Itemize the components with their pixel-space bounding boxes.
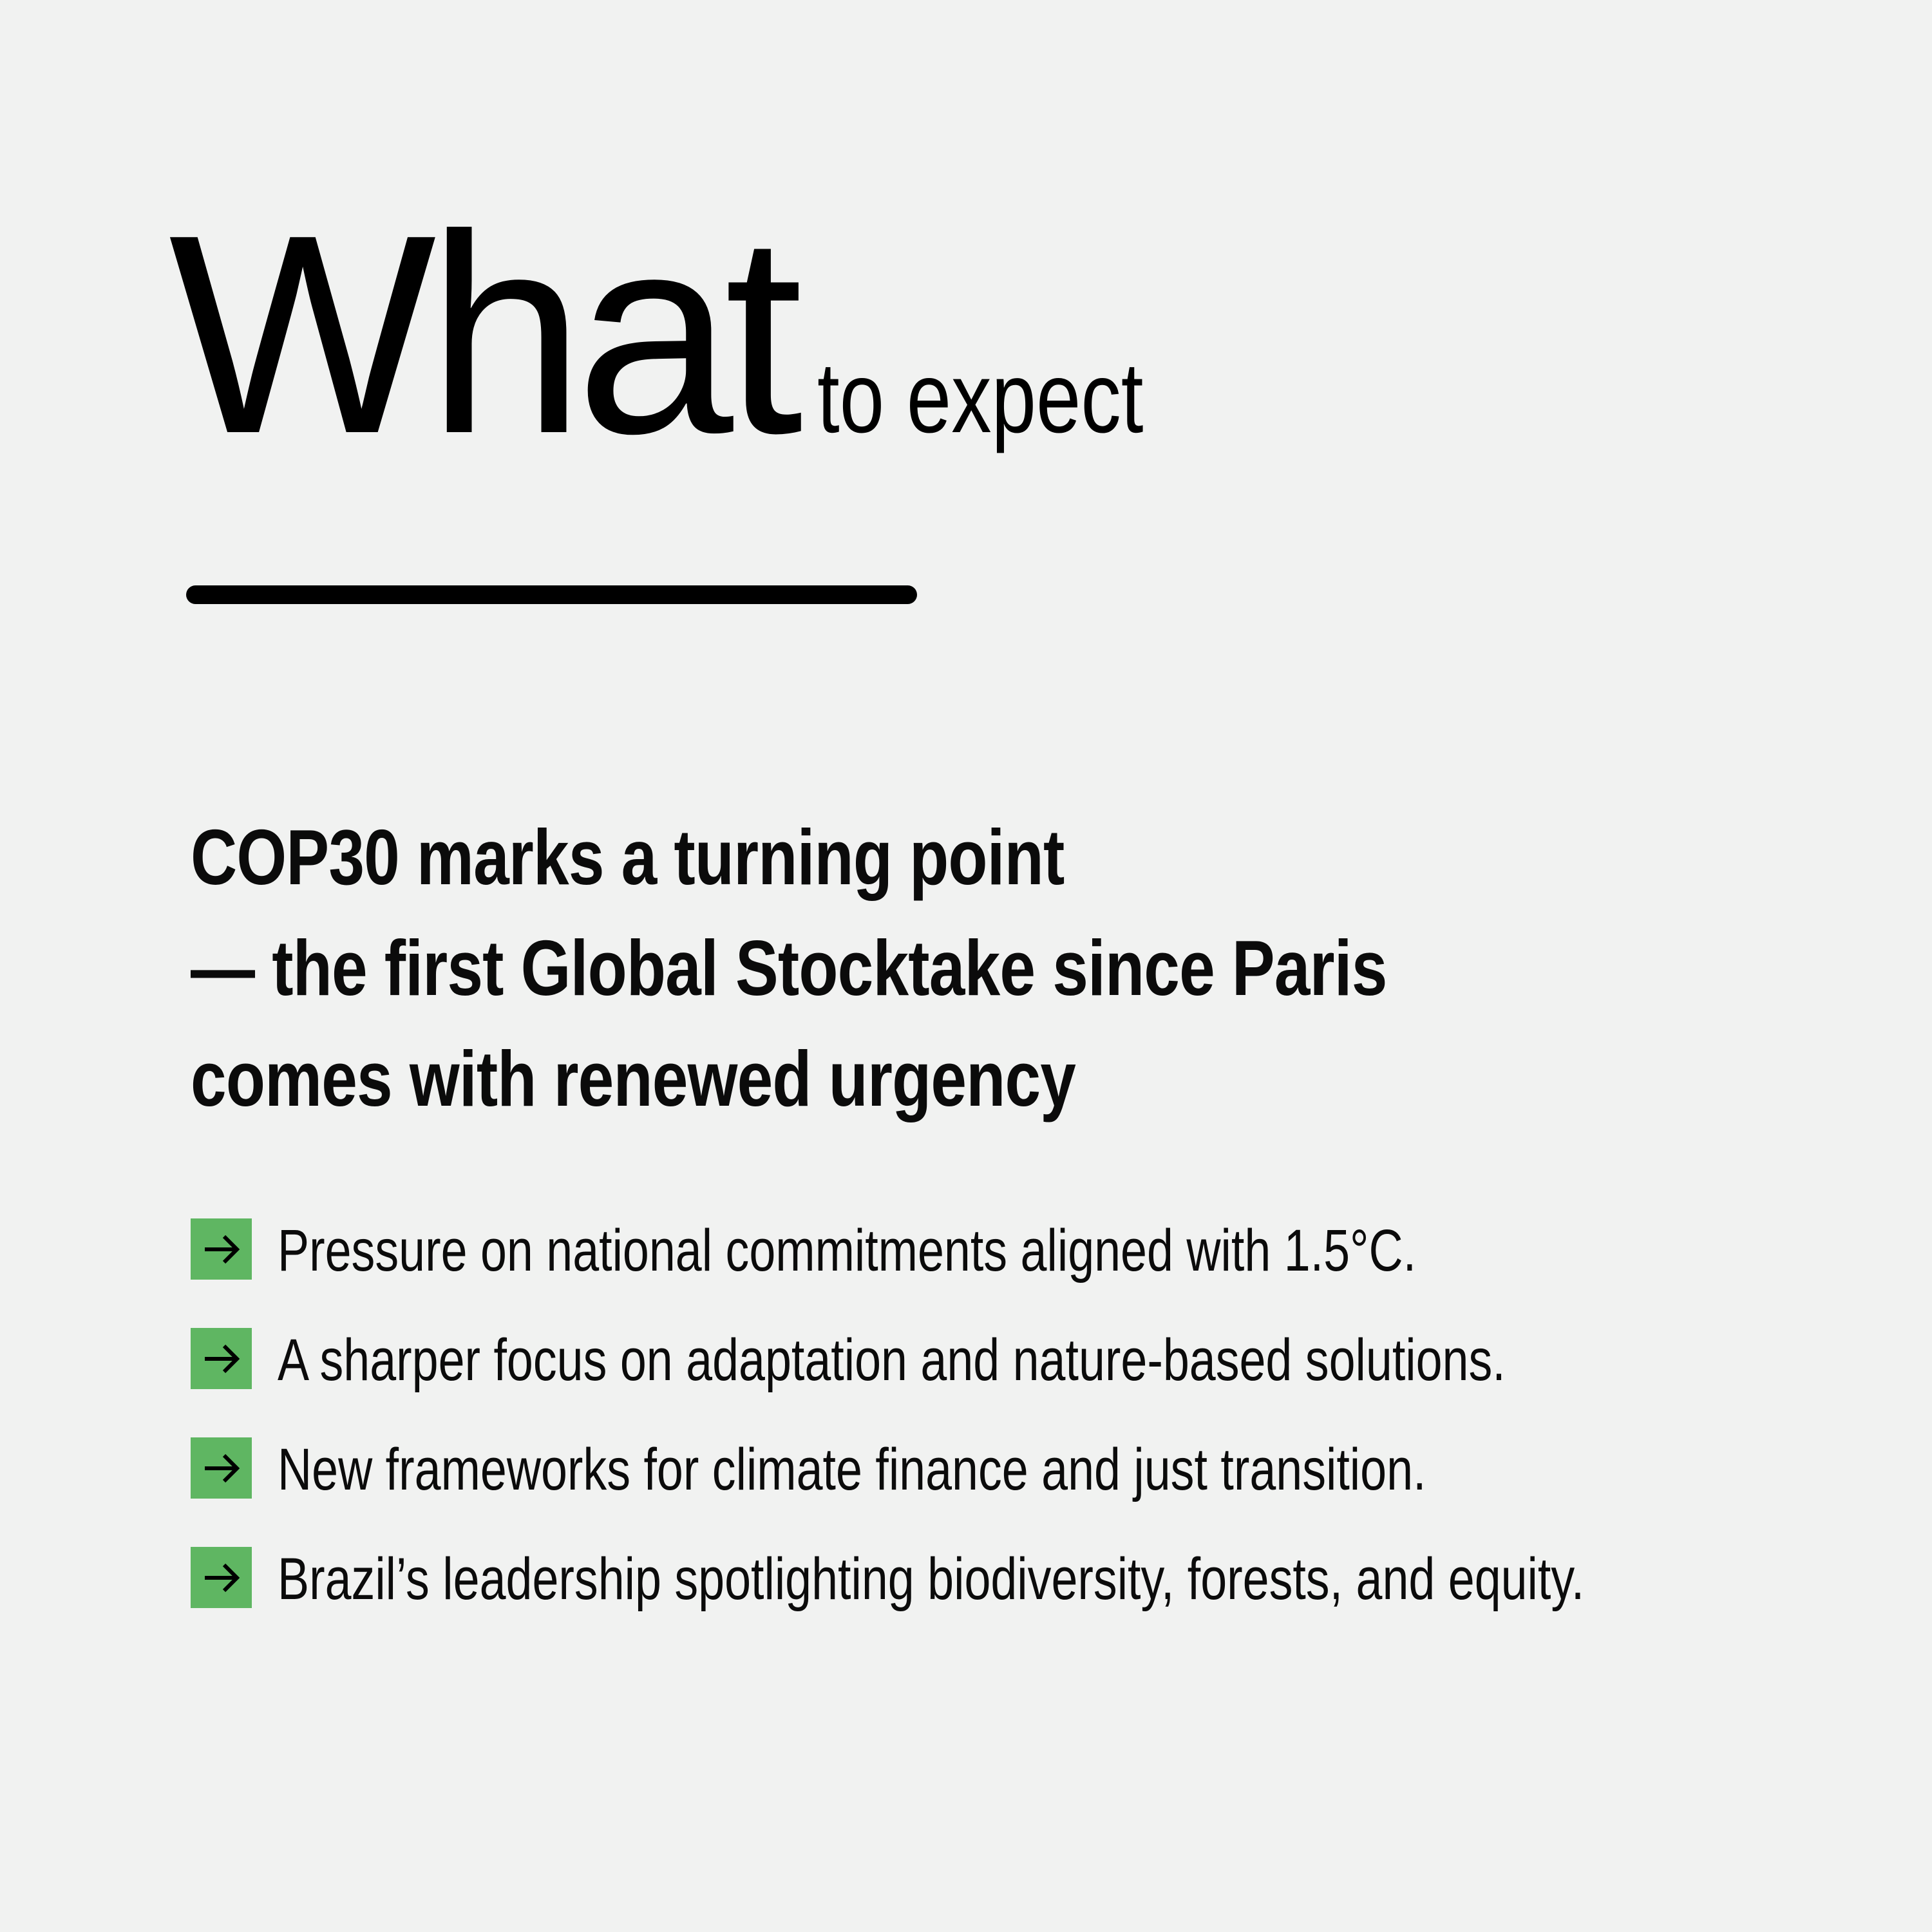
slide-canvas: What to expect COP30 marks a turning poi… <box>0 0 1932 1932</box>
deck-paragraph: COP30 marks a turning point — the first … <box>191 802 1768 1134</box>
headline: What to expect <box>169 193 1225 477</box>
bullet-list: Pressure on national commitments aligned… <box>191 1216 1839 1654</box>
arrow-right-icon <box>191 1328 252 1389</box>
list-item-label: A sharper focus on adaptation and nature… <box>278 1325 1506 1392</box>
arrow-right-icon <box>191 1437 252 1499</box>
list-item: Brazil’s leadership spotlighting biodive… <box>191 1544 1839 1654</box>
headline-suffix: to expect <box>817 348 1143 448</box>
list-item-label: Pressure on national commitments aligned… <box>278 1216 1416 1283</box>
list-item-label: Brazil’s leadership spotlighting biodive… <box>278 1544 1584 1611</box>
list-item: New frameworks for climate finance and j… <box>191 1435 1839 1544</box>
headline-divider-rule <box>186 585 917 604</box>
list-item-label: New frameworks for climate finance and j… <box>278 1435 1426 1502</box>
arrow-right-icon <box>191 1218 252 1280</box>
deck-line-2: — the first Global Stocktake since Paris <box>191 913 1484 1023</box>
deck-line-1: COP30 marks a turning point <box>191 802 1484 913</box>
list-item: A sharper focus on adaptation and nature… <box>191 1325 1839 1435</box>
list-item: Pressure on national commitments aligned… <box>191 1216 1839 1325</box>
deck-line-3: comes with renewed urgency <box>191 1023 1484 1134</box>
headline-main-word: What <box>169 193 794 477</box>
arrow-right-icon <box>191 1547 252 1608</box>
